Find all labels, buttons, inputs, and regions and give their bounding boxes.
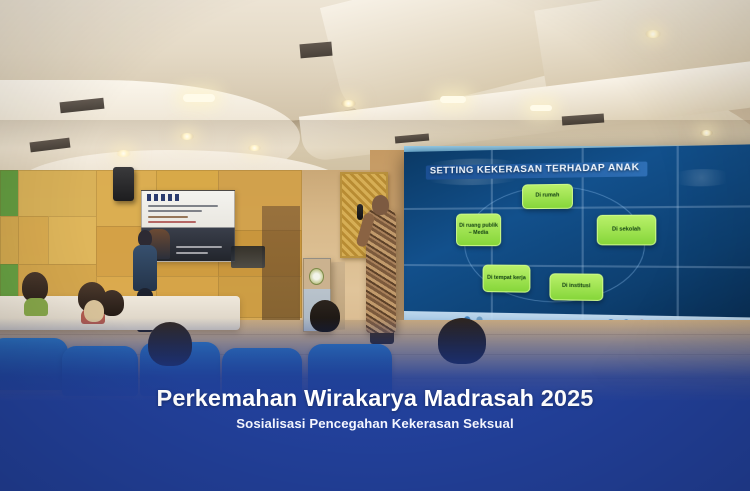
poster-line-2 <box>148 210 202 212</box>
screenshot-root: SETTING KEKERASAN TERHADAP ANAK Di rumah… <box>0 0 750 491</box>
ceiling-downlight-6 <box>700 130 713 136</box>
acoustic-panel-yellow-2 <box>18 170 98 218</box>
acoustic-panel-yellow-4 <box>48 216 98 266</box>
ceiling-light-tube-1 <box>183 94 215 102</box>
screen-glare-2 <box>668 169 737 187</box>
caption-subtitle: Sosialisasi Pencegahan Kekerasan Seksual <box>0 416 750 431</box>
slide-node-di-institusi[interactable]: Di institusi <box>549 273 603 301</box>
poster-line-3 <box>148 216 188 218</box>
caption-title: Perkemahan Wirakarya Madrasah 2025 <box>0 386 750 412</box>
speaker-head <box>372 195 389 215</box>
ceiling-light-tube-3 <box>530 105 552 111</box>
ac-vent-3 <box>299 42 332 59</box>
poster-line-4 <box>148 221 196 223</box>
slide-node-di-rumah[interactable]: Di rumah <box>522 184 573 209</box>
audience-body-1 <box>24 298 48 316</box>
video-wall[interactable]: SETTING KEKERASAN TERHADAP ANAK Di rumah… <box>404 144 750 332</box>
slide-node-di-tempat-kerja[interactable]: Di tempat kerja <box>483 265 531 293</box>
ceiling-shadow <box>0 120 750 148</box>
ceiling-downlight-4 <box>341 100 356 107</box>
ceiling-downlight-2 <box>180 133 194 140</box>
wall-speaker <box>113 167 134 201</box>
slide-node-di-ruang-publik-media[interactable]: Di ruang publik – Media <box>456 213 501 246</box>
ceiling-downlight-5 <box>645 30 661 38</box>
podium-emblem <box>309 268 324 285</box>
slide-node-di-sekolah[interactable]: Di sekolah <box>597 215 657 246</box>
laptop-on-table <box>231 246 265 268</box>
ceiling-downlight-1 <box>116 150 131 157</box>
acoustic-panel-yellow-1 <box>0 216 20 266</box>
caption-block: Perkemahan Wirakarya Madrasah 2025 Sosia… <box>0 386 750 431</box>
microphone <box>357 204 363 220</box>
poster-line-6 <box>176 252 208 254</box>
ceiling-light-tube-2 <box>440 96 466 103</box>
poster-line-1 <box>148 205 218 207</box>
ceiling-downlight-3 <box>248 145 261 151</box>
acoustic-panel-yellow-3 <box>18 216 50 266</box>
acoustic-panel-green-1 <box>0 170 20 218</box>
attendee-body <box>133 245 157 291</box>
doorway-dark <box>262 206 300 326</box>
poster-line-5 <box>176 246 222 248</box>
poster-logo <box>147 194 181 201</box>
